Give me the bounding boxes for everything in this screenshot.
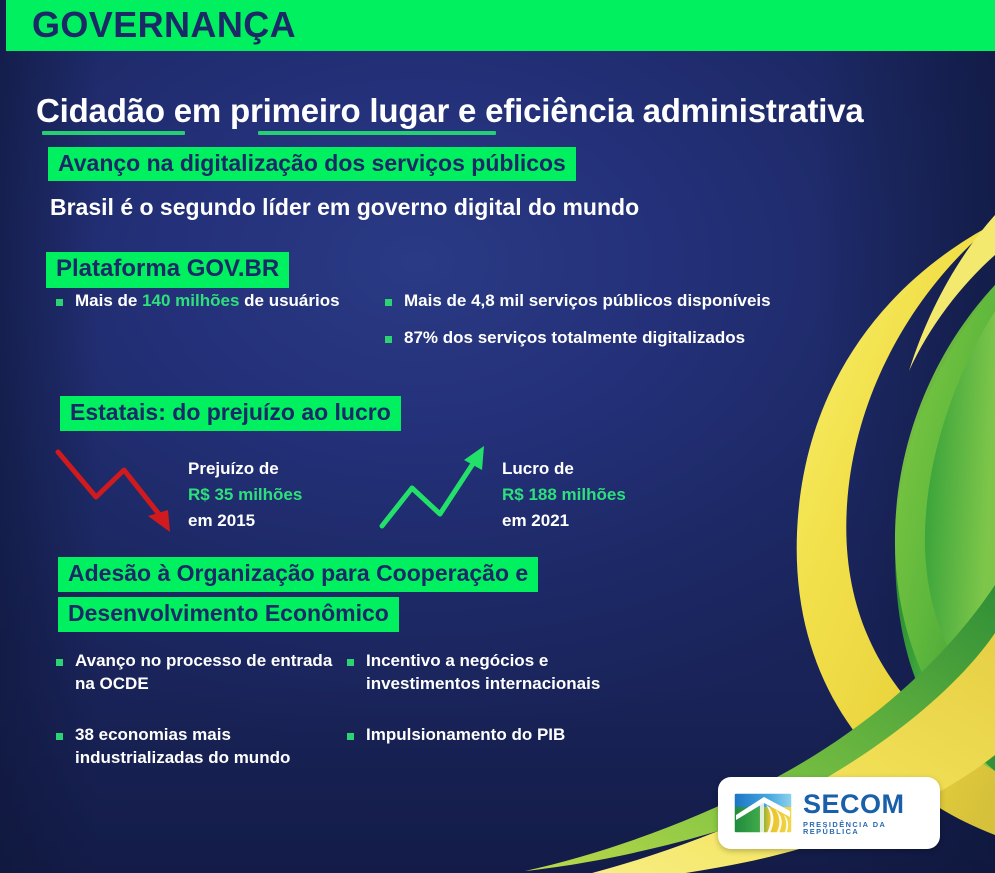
secom-name: SECOM bbox=[803, 791, 924, 818]
list-item-text: Incentivo a negócios e investimentos int… bbox=[366, 650, 647, 696]
section-heading-estatais: Estatais: do prejuízo ao lucro bbox=[60, 396, 401, 431]
govbr-bullets-right: Mais de 4,8 mil serviços públicos dispon… bbox=[385, 290, 855, 364]
bullet-square-icon bbox=[347, 733, 354, 740]
loss-line-1: Prejuízo de bbox=[188, 456, 302, 482]
estatais-loss-caption: Prejuízo de R$ 35 milhões em 2015 bbox=[188, 456, 302, 533]
list-item-text: Avanço no processo de entrada na OCDE bbox=[75, 650, 346, 696]
bullet-square-icon bbox=[347, 659, 354, 666]
secom-wordmark: SECOM PRESIDÊNCIA DA REPÚBLICA bbox=[803, 791, 924, 836]
govbr-bullets-left: Mais de 140 milhões de usuários bbox=[56, 290, 356, 327]
ocde-bullets-right: Incentivo a negócios e investimentos int… bbox=[347, 650, 647, 775]
bullet-square-icon bbox=[56, 299, 63, 306]
page-title: GOVERNANÇA bbox=[6, 7, 296, 43]
secom-subtitle: PRESIDÊNCIA DA REPÚBLICA bbox=[803, 821, 924, 836]
ocde-bullets-left: Avanço no processo de entrada na OCDE 38… bbox=[56, 650, 346, 798]
profit-line-3: em 2021 bbox=[502, 508, 626, 534]
digital-subline: Brasil é o segundo líder em governo digi… bbox=[50, 194, 639, 221]
section-heading-ocde-line2: Desenvolvimento Econômico bbox=[58, 597, 399, 632]
list-item: 87% dos serviços totalmente digitalizado… bbox=[385, 327, 855, 350]
profit-line-1: Lucro de bbox=[502, 456, 626, 482]
secom-logo: SECOM PRESIDÊNCIA DA REPÚBLICA bbox=[718, 777, 940, 849]
list-item: Mais de 140 milhões de usuários bbox=[56, 290, 356, 313]
bullet-square-icon bbox=[56, 733, 63, 740]
bullet-square-icon bbox=[385, 299, 392, 306]
list-item-text: Mais de 140 milhões de usuários bbox=[75, 290, 340, 313]
section-heading-plataforma-govbr: Plataforma GOV.BR bbox=[46, 252, 289, 288]
arrow-up-trend-icon bbox=[378, 440, 498, 540]
estatais-profit-caption: Lucro de R$ 188 milhões em 2021 bbox=[502, 456, 626, 533]
secom-roof-icon bbox=[734, 793, 792, 833]
profit-line-2: R$ 188 milhões bbox=[502, 482, 626, 508]
list-item: Mais de 4,8 mil serviços públicos dispon… bbox=[385, 290, 855, 313]
list-item-text: Mais de 4,8 mil serviços públicos dispon… bbox=[404, 290, 771, 313]
list-item-text: Impulsionamento do PIB bbox=[366, 724, 565, 747]
bullet-square-icon bbox=[56, 659, 63, 666]
main-headline: Cidadão em primeiro lugar e eficiência a… bbox=[36, 92, 864, 130]
headline-underline-1 bbox=[42, 131, 185, 135]
list-item-text: 38 economias mais industrializadas do mu… bbox=[75, 724, 346, 770]
header-bar: GOVERNANÇA bbox=[6, 0, 995, 51]
loss-line-3: em 2015 bbox=[188, 508, 302, 534]
list-item: 38 economias mais industrializadas do mu… bbox=[56, 724, 346, 770]
arrow-down-trend-icon bbox=[52, 440, 187, 540]
list-item: Avanço no processo de entrada na OCDE bbox=[56, 650, 346, 696]
infographic-slide: GOVERNANÇA Cidadão em primeiro lugar e e… bbox=[0, 0, 995, 873]
bullet-square-icon bbox=[385, 336, 392, 343]
section-heading-ocde-line1: Adesão à Organização para Cooperação e bbox=[58, 557, 538, 592]
loss-line-2: R$ 35 milhões bbox=[188, 482, 302, 508]
headline-underline-2 bbox=[258, 131, 496, 135]
list-item: Incentivo a negócios e investimentos int… bbox=[347, 650, 647, 696]
list-item-text: 87% dos serviços totalmente digitalizado… bbox=[404, 327, 745, 350]
list-item: Impulsionamento do PIB bbox=[347, 724, 647, 747]
section-heading-digitalizacao: Avanço na digitalização dos serviços púb… bbox=[48, 147, 576, 181]
